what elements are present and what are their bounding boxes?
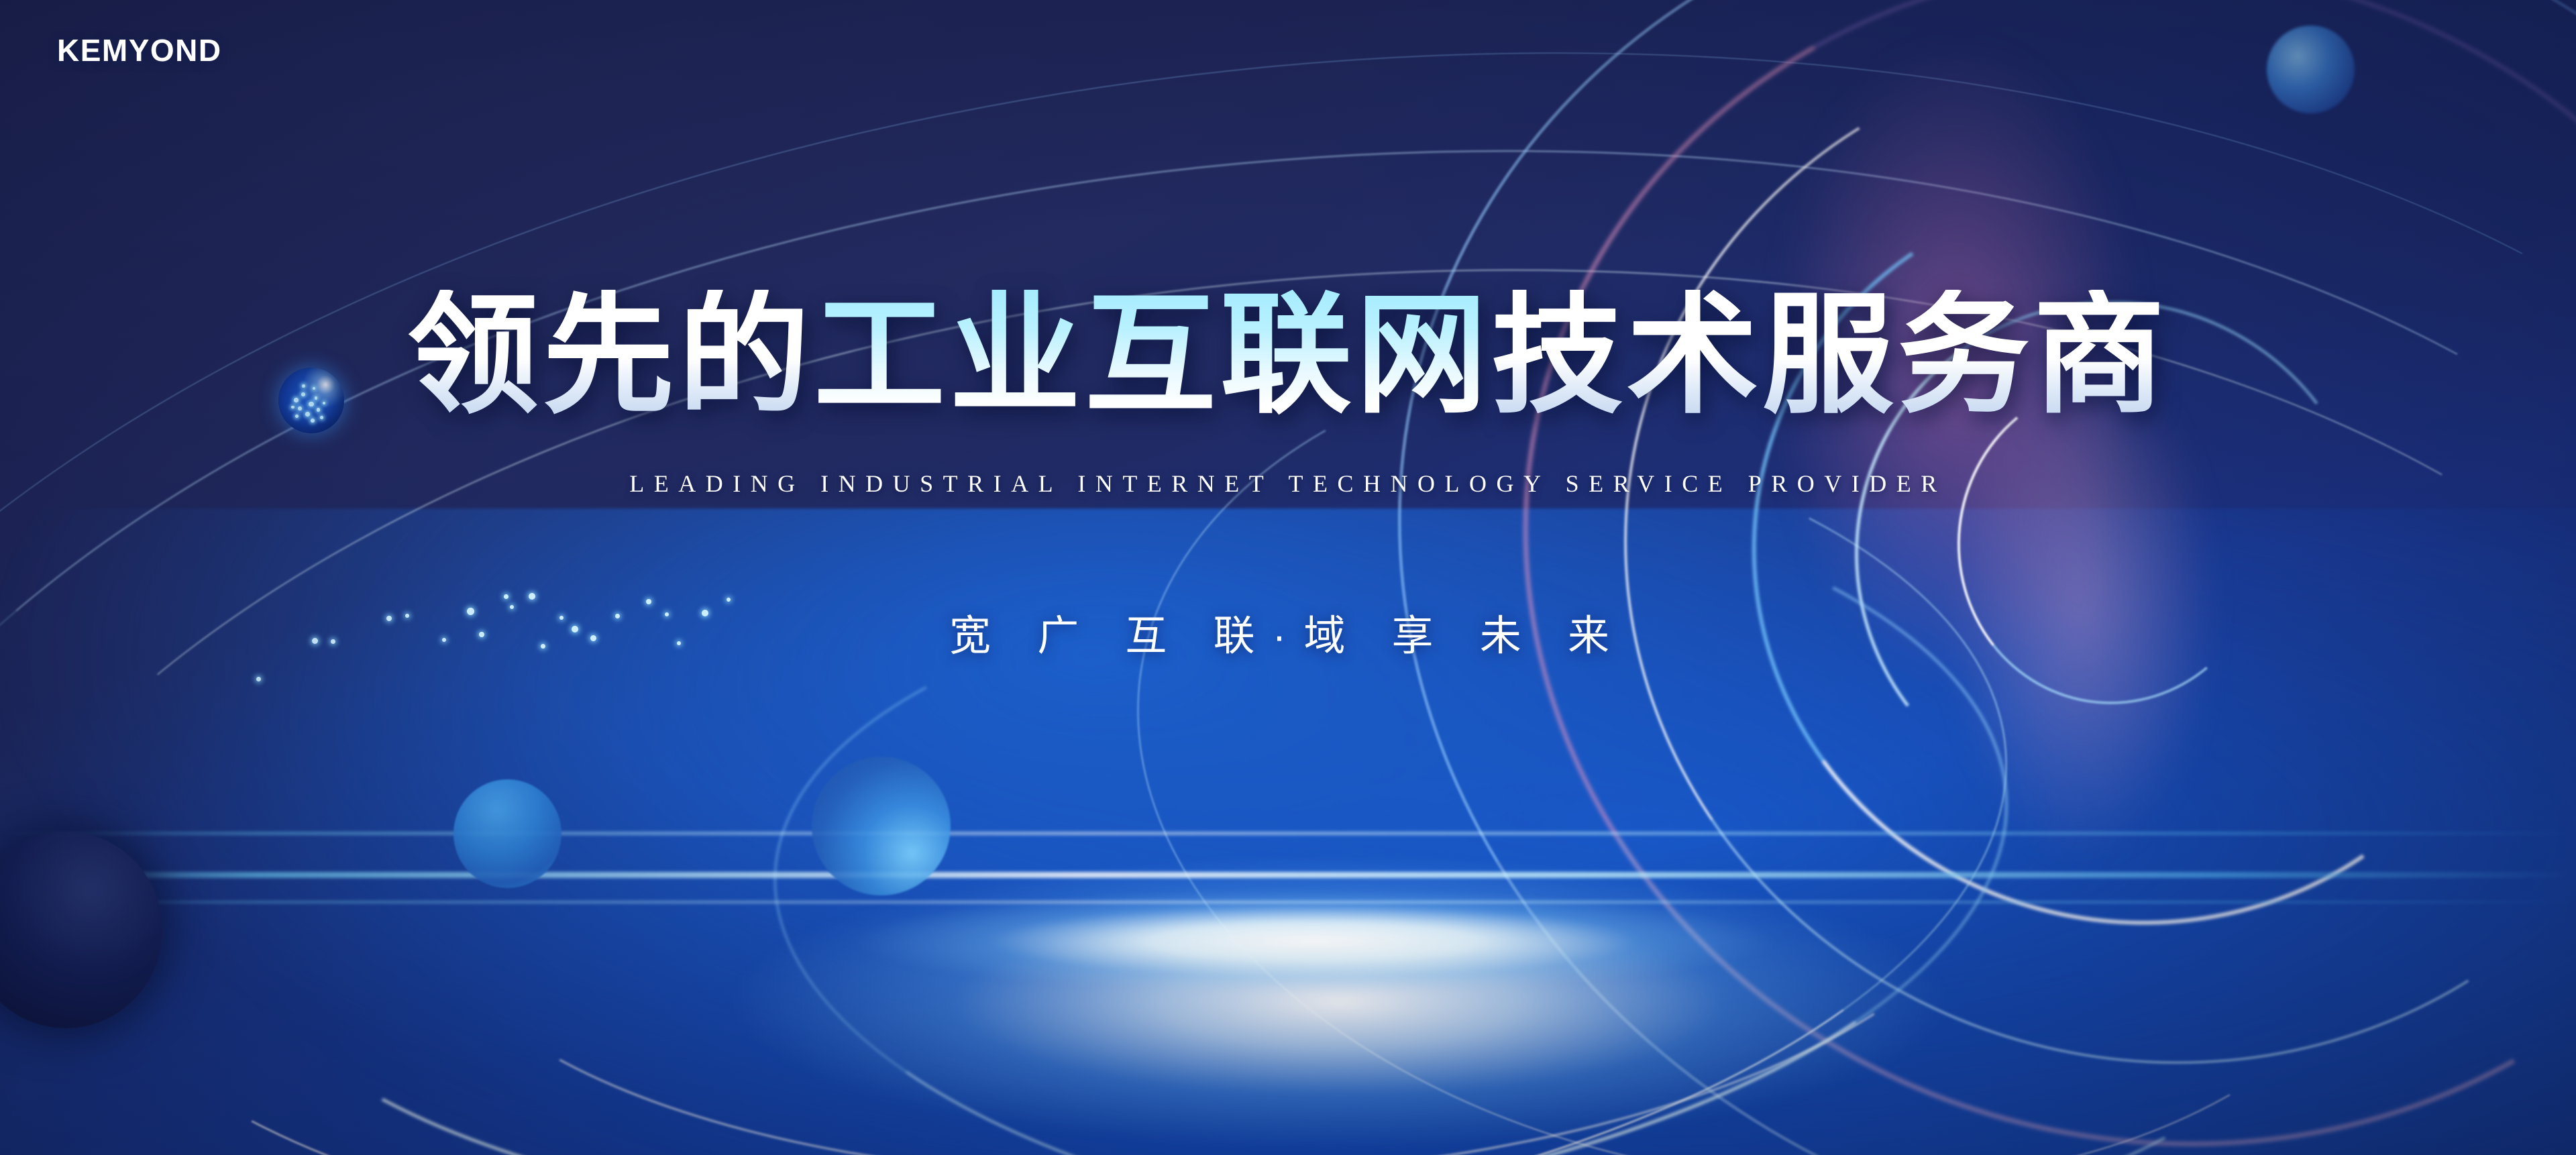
mid-sphere-left (453, 779, 561, 888)
tagline-right: 域 享 未 来 (1303, 613, 1627, 659)
tagline-separator: · (1273, 613, 1304, 659)
headline-part-tail: 技术服务商 (1491, 290, 2169, 421)
light-streak-3 (0, 901, 2576, 903)
center-light-core (850, 889, 1777, 993)
background-arc-middle (0, 5, 2576, 1155)
tagline: 宽 广 互 联·域 享 未 来 (0, 616, 2576, 657)
mid-sphere-right (812, 757, 951, 895)
top-right-sphere (2267, 25, 2355, 113)
subtitle-english: LEADING INDUSTRIAL INTERNET TECHNOLOGY S… (0, 472, 2576, 496)
swirl-ring-4 (1693, 123, 2576, 985)
swirl-ring-2-pink (1397, 0, 2576, 1155)
swirl-ring-1 (1233, 0, 2576, 1155)
light-ribbon-1 (24, 325, 2037, 1155)
headline: 领先的工业互联网技术服务商 (0, 290, 2576, 421)
light-ribbon-2 (187, 415, 2028, 1155)
headline-part-highlight: 工业互联网 (814, 290, 1491, 421)
light-streak-1 (0, 832, 2576, 835)
swirl-ring-3 (1529, 0, 2576, 1155)
bottom-left-dark-sphere (0, 832, 162, 1028)
brand-logo[interactable]: KEMYOND (57, 35, 222, 66)
background-arc-outer (0, 0, 2576, 1155)
light-ribbon-3 (401, 504, 2020, 1155)
light-streak-2 (0, 872, 2576, 878)
tagline-left: 宽 广 互 联 (949, 613, 1273, 659)
promo-banner: KEMYOND 领先的工业互联网技术服务商 LEADING INDUSTRIAL… (0, 0, 2576, 1155)
headline-part-lead: 领先的 (407, 290, 814, 421)
vignette-overlay (0, 0, 2576, 1155)
